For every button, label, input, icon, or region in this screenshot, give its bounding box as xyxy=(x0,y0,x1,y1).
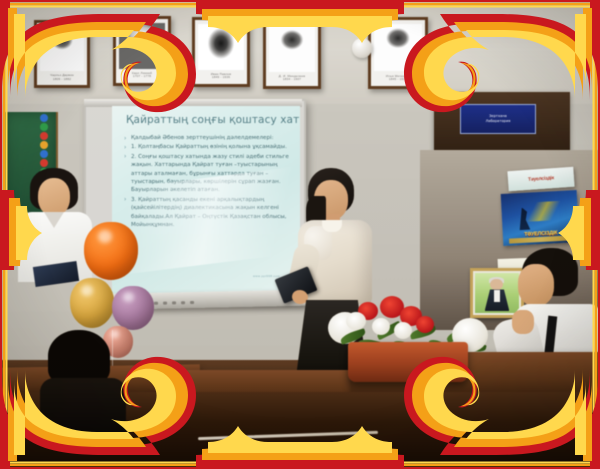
slide-title: Қайраттың соңғы қоштасу хаты xyxy=(126,114,296,126)
wall-portrait-4: Д. И. Менделеев 1834 - 1907 xyxy=(263,19,321,89)
seated-boy-front-hair xyxy=(48,330,110,384)
portrait-caption-dates-3: 1849 - 1936 xyxy=(212,76,230,79)
room-sign: Зертхана Лаборатория xyxy=(460,104,536,134)
portrait-caption-1: Чарльз Дарвин 1809 - 1882 xyxy=(41,73,83,83)
seated-boy-hand xyxy=(512,310,534,334)
poster-top-text: Тәуелсіздік xyxy=(528,175,554,183)
flower-cluster xyxy=(346,294,466,340)
wall-knob-icon xyxy=(352,38,372,58)
portrait-caption-dates-5: 1845 - 1916 xyxy=(389,78,407,81)
portrait-caption-dates-1: 1809 - 1882 xyxy=(53,78,71,81)
presenter-collar xyxy=(322,220,342,232)
portrait-face-1 xyxy=(40,27,84,72)
slide-watermark-url: www.ppt998.com xyxy=(253,274,280,278)
portrait-face-4 xyxy=(269,26,315,72)
balloon-orange xyxy=(84,222,138,280)
balloon-purple xyxy=(112,286,154,330)
flower-planter xyxy=(348,342,468,382)
seated-boy-front xyxy=(40,330,126,430)
wall-portrait-5: Илья Мечников 1845 - 1916 xyxy=(368,17,428,89)
portrait-caption-5: Илья Мечников 1845 - 1916 xyxy=(375,73,420,84)
room-sign-line2: Лаборатория xyxy=(486,119,511,124)
poster-flag-graphic xyxy=(521,201,561,222)
portrait-face-3 xyxy=(198,24,244,70)
portrait-caption-dates-4: 1834 - 1907 xyxy=(283,78,301,81)
slide-bullet-1: Қалдыбай Әбенов зерттеушінің дәлелдемеле… xyxy=(124,134,298,142)
portrait-caption-4: Д. И. Менделеев 1834 - 1907 xyxy=(270,73,314,83)
balloon-gold xyxy=(70,278,114,328)
portrait-face-5 xyxy=(374,24,422,72)
wall-portrait-3: Иван Павлов 1849 - 1936 xyxy=(192,17,250,87)
seated-boy-front-body xyxy=(40,378,126,438)
seated-boy-face xyxy=(518,264,554,306)
wall-portrait-2: Карл Линней 1707 - 1778 xyxy=(113,16,171,86)
classroom-photo: Чарльз Дарвин 1809 - 1882 Карл Линней 17… xyxy=(0,0,600,469)
portrait-caption-2: Карл Линней 1707 - 1778 xyxy=(120,70,164,80)
portrait-caption-dates-2: 1707 - 1778 xyxy=(133,75,151,78)
slide-bullet-2: 1. Қолтаңбасы Қайраттың өзінің қолына ұқ… xyxy=(124,143,298,151)
poster-independence: ТӘУЕЛСІЗДІК xyxy=(501,190,580,246)
seated-girl-face xyxy=(38,178,70,216)
portrait-face-2 xyxy=(119,23,165,69)
projection-screen: Қайраттың соңғы қоштасу хаты Қалдыбай Әб… xyxy=(112,106,300,294)
wall-portrait-1: Чарльз Дарвин 1809 - 1882 xyxy=(34,20,90,88)
portrait-caption-3: Иван Павлов 1849 - 1936 xyxy=(199,71,243,81)
